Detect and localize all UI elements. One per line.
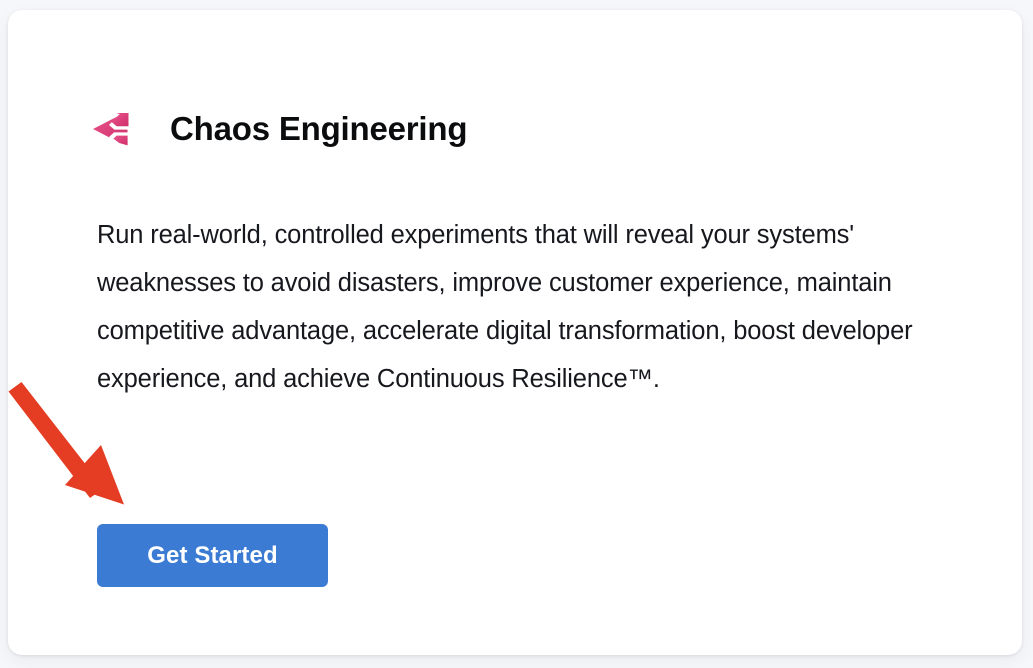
get-started-button[interactable]: Get Started: [97, 524, 328, 587]
page-title: Chaos Engineering: [170, 112, 467, 145]
chaos-engineering-logo-icon: [89, 107, 133, 151]
description-text: Run real-world, controlled experiments t…: [97, 211, 943, 403]
content-card: Chaos Engineering Run real-world, contro…: [8, 10, 1022, 655]
card-header: Chaos Engineering: [89, 90, 467, 167]
